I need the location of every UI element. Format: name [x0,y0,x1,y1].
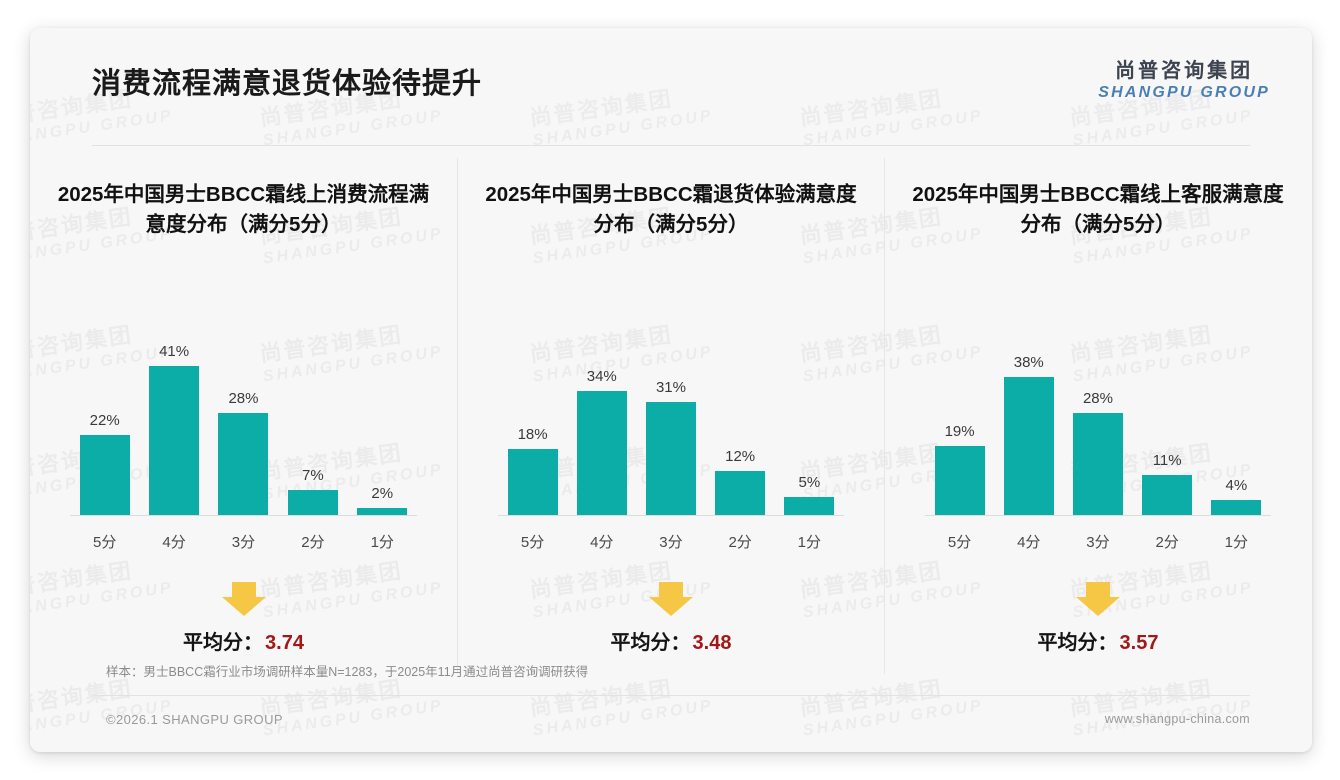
logo-english-text: SHANGPU GROUP [1098,83,1270,103]
bar [149,366,199,515]
header-divider [92,145,1250,146]
x-tick-label: 4分 [996,531,1062,552]
average-score-line: 平均分：3.48 [476,626,866,655]
bar-group: 31% [638,300,704,515]
x-axis-ticks: 5分4分3分2分1分 [498,531,844,552]
bar-group: 41% [141,300,207,515]
chart-plot-area: 19%38%28%11%4%5分4分3分2分1分 [903,276,1293,516]
bar [646,402,696,515]
x-tick-label: 2分 [280,531,346,552]
bar [577,391,627,515]
x-tick-label: 1分 [776,531,842,552]
bar-group: 18% [500,300,566,515]
bar-group: 7% [280,300,346,515]
bar-value-label: 2% [371,485,393,502]
bar [80,435,130,515]
x-tick-label: 2分 [707,531,773,552]
arrow-shaft [659,582,683,598]
chart-panel-1: 2025年中国男士BBCC霜线上消费流程满意度分布（满分5分）22%41%28%… [30,158,457,674]
bar-value-label: 34% [587,368,617,385]
arrow-head [222,597,266,616]
x-tick-label: 5分 [500,531,566,552]
bar-value-label: 41% [159,343,189,360]
average-label: 平均分： [1038,632,1118,654]
bar [508,449,558,515]
bar-group: 28% [1065,300,1131,515]
slide-footer: ©2026.1 SHANGPU GROUP www.shangpu-china.… [30,696,1312,752]
arrow-shaft [232,582,256,598]
bar [357,508,407,515]
brand-logo: 尚普咨询集团 SHANGPU GROUP [1098,60,1270,103]
bar [935,446,985,515]
bar [1004,377,1054,515]
x-tick-label: 3分 [638,531,704,552]
chart-panel-2: 2025年中国男士BBCC霜退货体验满意度分布（满分5分）18%34%31%12… [457,158,884,674]
x-tick-label: 4分 [569,531,635,552]
bar-group: 19% [927,300,993,515]
arrow-down-icon [222,582,266,616]
x-tick-label: 4分 [141,531,207,552]
x-tick-label: 1分 [1203,531,1269,552]
bar-value-label: 28% [228,390,258,407]
average-label: 平均分： [183,632,263,654]
arrow-down-icon [1076,582,1120,616]
x-tick-label: 3分 [1065,531,1131,552]
bar-group: 38% [996,300,1062,515]
average-value: 3.74 [265,632,304,654]
slide-canvas: 尚普咨询集团SHANGPU GROUP尚普咨询集团SHANGPU GROUP尚普… [30,28,1312,752]
bar-series: 18%34%31%12%5% [498,300,844,516]
bar-value-label: 18% [518,426,548,443]
bar-value-label: 4% [1225,477,1247,494]
bar [1073,413,1123,515]
x-axis-ticks: 5分4分3分2分1分 [70,531,417,552]
x-tick-label: 1分 [349,531,415,552]
copyright-text: ©2026.1 SHANGPU GROUP [106,712,283,727]
bar-group: 5% [776,300,842,515]
x-tick-label: 5分 [72,531,138,552]
chart-title: 2025年中国男士BBCC霜线上消费流程满意度分布（满分5分） [48,158,439,246]
slide-header: 消费流程满意退货体验待提升 尚普咨询集团 SHANGPU GROUP [30,28,1312,126]
bar [784,497,834,515]
bar [218,413,268,515]
average-score-line: 平均分：3.57 [903,626,1293,655]
chart-plot-area: 18%34%31%12%5%5分4分3分2分1分 [476,276,866,516]
logo-chinese-text: 尚普咨询集团 [1098,60,1270,83]
bar-value-label: 31% [656,379,686,396]
sample-footnote: 样本：男士BBCC霜行业市场调研样本量N=1283，于2025年11月通过尚普咨… [106,661,588,680]
charts-row: 2025年中国男士BBCC霜线上消费流程满意度分布（满分5分）22%41%28%… [30,158,1312,674]
arrow-head [1076,597,1120,616]
chart-plot-area: 22%41%28%7%2%5分4分3分2分1分 [48,276,439,516]
chart-title: 2025年中国男士BBCC霜退货体验满意度分布（满分5分） [476,158,866,246]
bar-value-label: 19% [945,423,975,440]
bar-group: 28% [211,300,277,515]
average-value: 3.48 [693,632,732,654]
x-axis-ticks: 5分4分3分2分1分 [925,531,1271,552]
bar [1142,475,1192,515]
chart-title: 2025年中国男士BBCC霜线上客服满意度分布（满分5分） [903,158,1293,246]
bar-value-label: 28% [1083,390,1113,407]
bar-value-label: 12% [725,448,755,465]
arrow-head [649,597,693,616]
bar [288,490,338,515]
bar [1211,500,1261,515]
bar-value-label: 7% [302,467,324,484]
bar-value-label: 5% [798,474,820,491]
bar-value-label: 38% [1014,354,1044,371]
arrow-shaft [1086,582,1110,598]
average-value: 3.57 [1120,632,1159,654]
average-label: 平均分： [611,632,691,654]
bar-group: 4% [1203,300,1269,515]
x-tick-label: 2分 [1134,531,1200,552]
bar-series: 19%38%28%11%4% [925,300,1271,516]
x-tick-label: 3分 [211,531,277,552]
bar-group: 11% [1134,300,1200,515]
website-link[interactable]: www.shangpu-china.com [1105,712,1250,726]
bar-series: 22%41%28%7%2% [70,300,417,516]
x-tick-label: 5分 [927,531,993,552]
page-title: 消费流程满意退货体验待提升 [92,60,482,102]
bar-group: 2% [349,300,415,515]
bar [715,471,765,515]
average-score-block: 平均分：3.57 [903,582,1293,674]
bar-value-label: 22% [90,412,120,429]
bar-value-label: 11% [1153,452,1182,469]
bar-group: 22% [72,300,138,515]
chart-panel-3: 2025年中国男士BBCC霜线上客服满意度分布（满分5分）19%38%28%11… [884,158,1311,674]
average-score-line: 平均分：3.74 [48,626,439,655]
bar-group: 34% [569,300,635,515]
arrow-down-icon [649,582,693,616]
bar-group: 12% [707,300,773,515]
